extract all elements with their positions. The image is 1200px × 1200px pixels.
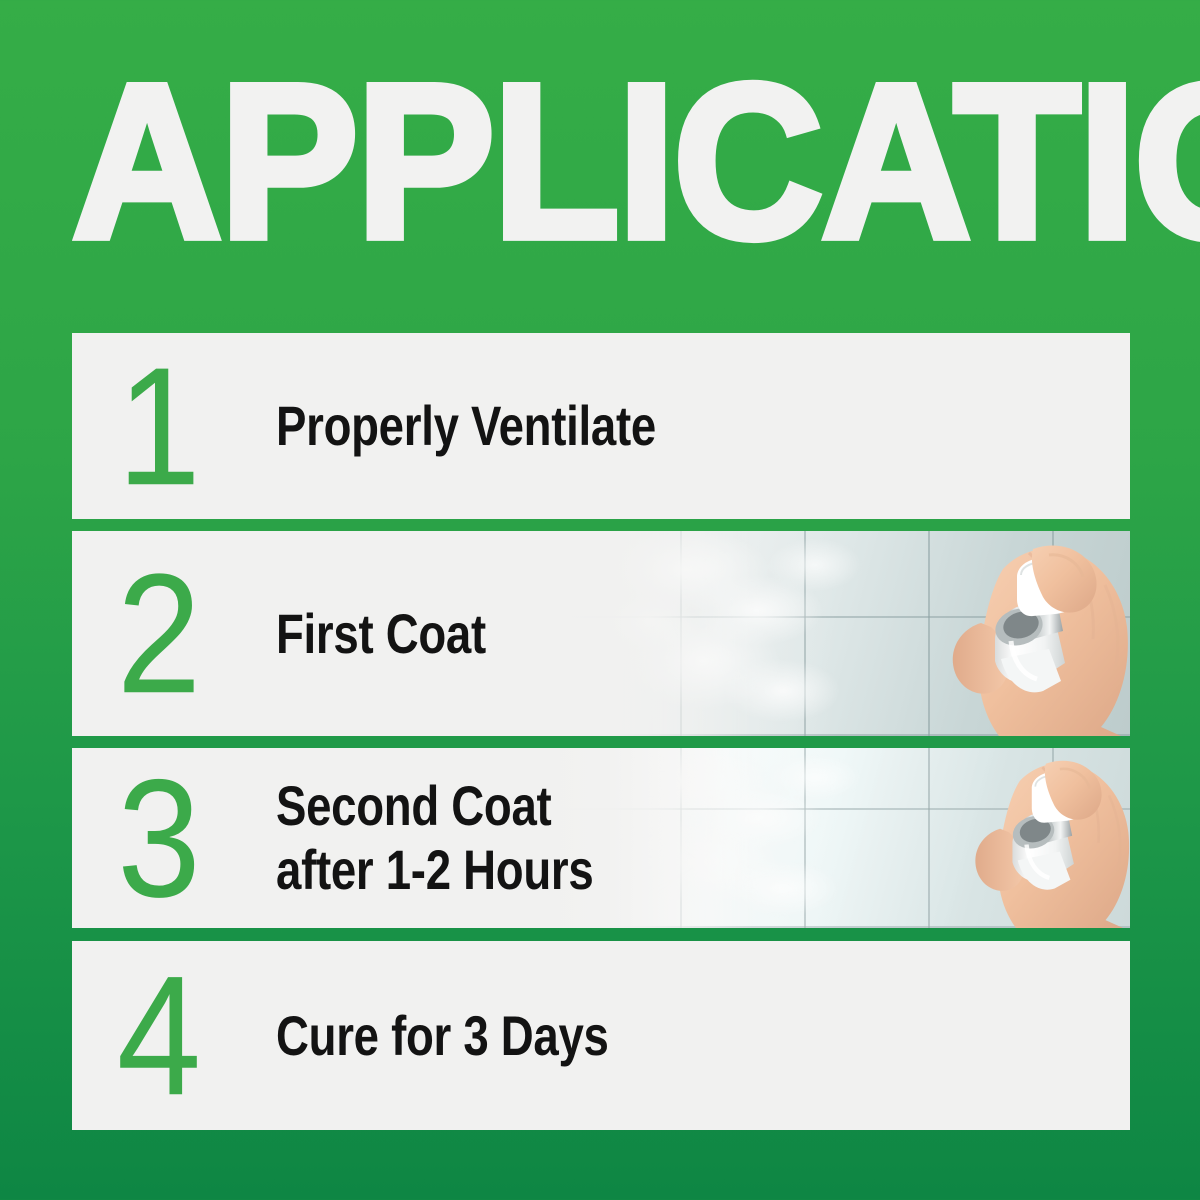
step-row-1: 1 Properly Ventilate [72, 333, 1130, 519]
step-number-2: 2 [72, 548, 242, 718]
step-number-4: 4 [72, 950, 242, 1120]
step-row-4: 4 Cure for 3 Days [72, 941, 1130, 1130]
step-label-2: First Coat [276, 602, 486, 665]
step-row-3: 3 Second Coat after 1-2 Hours [72, 748, 1130, 928]
page-title-container: APPLICATION [72, 70, 1130, 255]
step-row-2: 2 First Coat [72, 531, 1130, 736]
step-label-1: Properly Ventilate [276, 394, 656, 457]
step-number-3: 3 [72, 754, 242, 922]
step-label-3: Second Coat after 1-2 Hours [276, 775, 593, 901]
page-title: APPLICATION [72, 68, 1200, 257]
step-label-4: Cure for 3 Days [276, 1004, 609, 1067]
step-number-1: 1 [72, 342, 242, 510]
